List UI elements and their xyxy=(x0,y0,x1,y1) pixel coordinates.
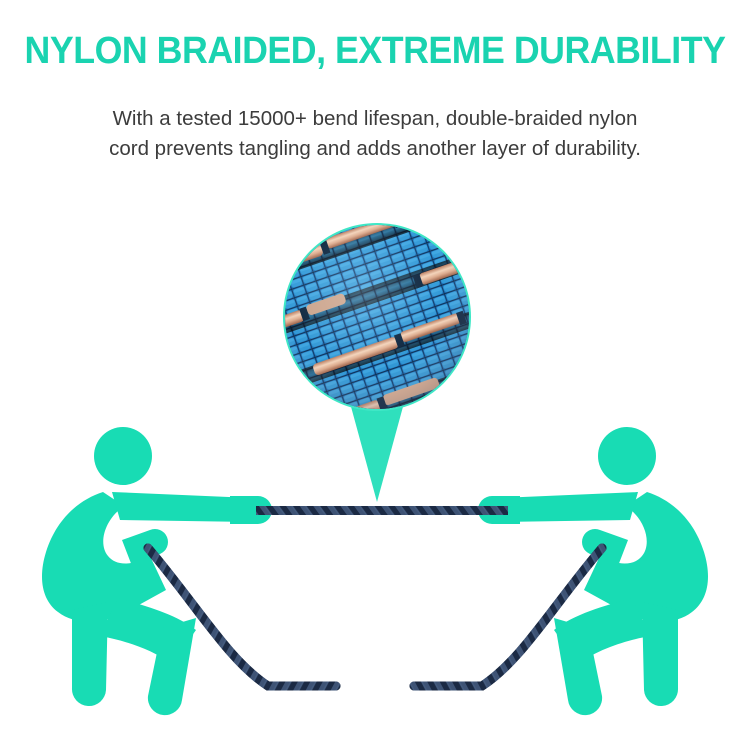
figure-back-leg-right xyxy=(642,602,678,706)
cable-closeup-image xyxy=(225,188,533,447)
illustration-area xyxy=(0,0,750,750)
figure-head-right xyxy=(598,427,656,485)
tug-of-war-figure-left xyxy=(42,427,272,715)
taut-rope-segment xyxy=(256,506,508,515)
figure-back-leg-left xyxy=(72,602,108,706)
figure-head-left xyxy=(94,427,152,485)
magnifier-lens xyxy=(225,188,533,447)
tug-of-war-figure-right xyxy=(478,427,708,715)
product-feature-infographic: NYLON BRAIDED, EXTREME DURABILITY With a… xyxy=(0,0,750,750)
